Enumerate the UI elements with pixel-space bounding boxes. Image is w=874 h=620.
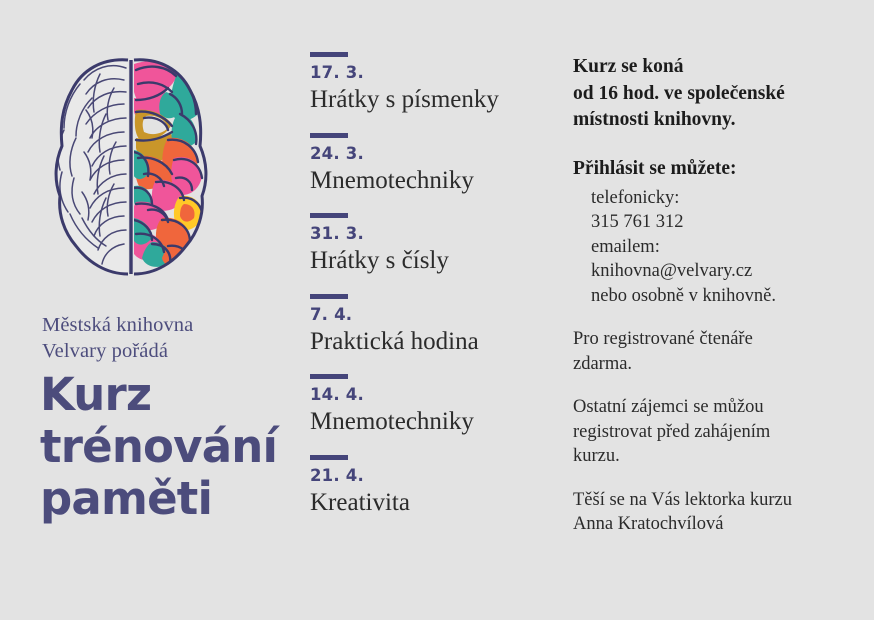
lecturer-note: Těší se na Vás lektorka kurzu Anna Krato… (573, 488, 858, 537)
date-rule-icon (310, 52, 348, 57)
title-line-3: paměti (40, 473, 290, 525)
signup-heading: Přihlásit se můžete: (573, 156, 858, 182)
event-date: 21. 4. (310, 466, 550, 486)
poster-title: Kurz trénování paměti (40, 369, 290, 525)
event-date: 31. 3. (310, 224, 550, 244)
list-item: 7. 4. Praktická hodina (310, 294, 550, 358)
other-applicants-note: Ostatní zájemci se můžou registrovat pře… (573, 395, 858, 469)
brain-illustration (40, 54, 222, 280)
contact-in-person: nebo osobně v knihovně. (591, 284, 858, 309)
date-rule-icon (310, 133, 348, 138)
lecturer-name: Anna Kratochvílová (573, 512, 858, 537)
brain-right-hemisphere (132, 54, 222, 280)
poster-canvas: Městská knihovna Velvary pořádá Kurz tré… (0, 0, 874, 620)
contact-phone-label: telefonicky: (591, 186, 858, 211)
info-column: Kurz se koná od 16 hod. ve společenské m… (573, 54, 858, 537)
organizer-text: Městská knihovna Velvary pořádá (42, 312, 286, 364)
time-place-line-1: Kurz se koná (573, 54, 858, 81)
time-place-line-3: místnosti knihovny. (573, 107, 858, 134)
schedule-list: 17. 3. Hrátky s písmenky 24. 3. Mnemotec… (310, 52, 550, 519)
other-applicants-line-3: kurzu. (573, 444, 858, 469)
lecturer-line-1: Těší se na Vás lektorka kurzu (573, 488, 858, 513)
event-date: 14. 4. (310, 385, 550, 405)
other-applicants-line-2: registrovat před zahájením (573, 420, 858, 445)
event-name: Praktická hodina (310, 326, 550, 358)
title-line-1: Kurz (40, 369, 290, 421)
left-column: Městská knihovna Velvary pořádá Kurz tré… (38, 44, 288, 584)
registered-readers-note: Pro registrované čtenáře zdarma. (573, 327, 858, 376)
other-applicants-line-1: Ostatní zájemci se můžou (573, 395, 858, 420)
event-date: 17. 3. (310, 63, 550, 83)
organizer-line-2: Velvary pořádá (42, 338, 286, 364)
event-name: Hrátky s čísly (310, 245, 550, 277)
event-name: Kreativita (310, 487, 550, 519)
date-rule-icon (310, 455, 348, 460)
time-place-heading: Kurz se koná od 16 hod. ve společenské m… (573, 54, 858, 134)
registered-readers-line-2: zdarma. (573, 352, 858, 377)
event-name: Mnemotechniky (310, 165, 550, 197)
contact-list: telefonicky: 315 761 312 emailem: knihov… (591, 186, 858, 309)
event-date: 7. 4. (310, 305, 550, 325)
contact-phone-number[interactable]: 315 761 312 (591, 210, 858, 235)
time-place-line-2: od 16 hod. ve společenské (573, 81, 858, 108)
list-item: 14. 4. Mnemotechniky (310, 374, 550, 438)
list-item: 21. 4. Kreativita (310, 455, 550, 519)
contact-email-address[interactable]: knihovna@velvary.cz (591, 259, 858, 284)
date-rule-icon (310, 294, 348, 299)
list-item: 31. 3. Hrátky s čísly (310, 213, 550, 277)
list-item: 17. 3. Hrátky s písmenky (310, 52, 550, 116)
title-line-2: trénování (40, 421, 290, 473)
brain-left-hemisphere (40, 54, 132, 280)
event-date: 24. 3. (310, 144, 550, 164)
registered-readers-line-1: Pro registrované čtenáře (573, 327, 858, 352)
date-rule-icon (310, 374, 348, 379)
date-rule-icon (310, 213, 348, 218)
organizer-line-1: Městská knihovna (42, 312, 286, 338)
event-name: Mnemotechniky (310, 406, 550, 438)
contact-email-label: emailem: (591, 235, 858, 260)
list-item: 24. 3. Mnemotechniky (310, 133, 550, 197)
event-name: Hrátky s písmenky (310, 84, 550, 116)
